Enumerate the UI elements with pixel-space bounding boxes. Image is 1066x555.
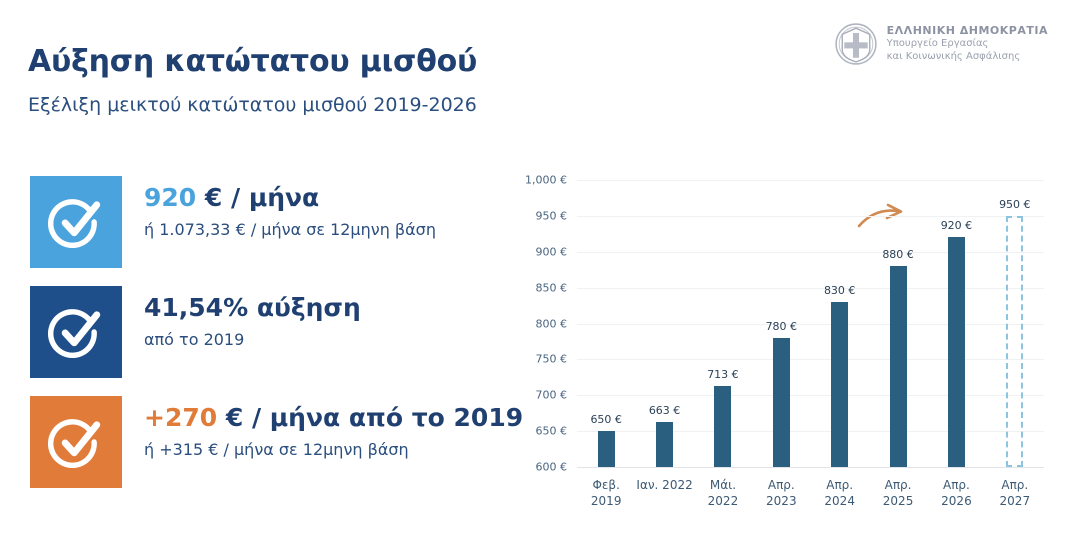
stat-body: 920 € / μήνα ή 1.073,33 € / μήνα σε 12μη… [122, 176, 436, 239]
check-circle-icon [47, 193, 105, 251]
stat-headline: +270 € / μήνα από το 2019 [144, 404, 523, 433]
ministry-logo-text: ΕΛΛΗΝΙΚΗ ΔΗΜΟΚΡΑΤΙΑ Υπουργείο Εργασίας κ… [887, 24, 1048, 64]
page-subtitle: Εξέλιξη μεικτού κατώτατου μισθού 2019-20… [28, 94, 477, 116]
x-axis-line [577, 467, 1044, 468]
ministry-logo: ΕΛΛΗΝΙΚΗ ΔΗΜΟΚΡΑΤΙΑ Υπουργείο Εργασίας κ… [834, 22, 1048, 66]
y-axis-tick-label: 950 € [505, 209, 567, 222]
x-axis-tick-label: Απρ.2027 [1000, 477, 1031, 509]
chart-bar-value-label: 920 € [941, 219, 973, 232]
y-axis-tick-label: 700 € [505, 389, 567, 402]
x-axis-tick-label: Απρ.2025 [883, 477, 914, 509]
chart-bar-value-label: 950 € [999, 198, 1031, 211]
stat-subtext: από το 2019 [144, 330, 361, 349]
y-axis-tick-label: 850 € [505, 281, 567, 294]
stat-item: +270 € / μήνα από το 2019 ή +315 € / μήν… [30, 396, 480, 488]
chart-gridline [577, 288, 1044, 289]
page-title: Αύξηση κατώτατου μισθού [28, 44, 477, 79]
chart-bar [598, 431, 615, 467]
y-axis-tick-label: 900 € [505, 245, 567, 258]
check-circle-icon [47, 303, 105, 361]
chart-bar-value-label: 880 € [882, 248, 914, 261]
x-axis-tick-label: Απρ.2026 [941, 477, 972, 509]
stat-item: 41,54% αύξηση από το 2019 [30, 286, 480, 378]
x-axis-tick-label: Απρ.2023 [766, 477, 797, 509]
stat-headline-rest: € / μήνα [196, 183, 319, 212]
chart-plot-area: 1,000 €950 €900 €850 €800 €750 €700 €650… [505, 160, 1050, 525]
stat-icon-box [30, 286, 122, 378]
chart-bar-value-label: 650 € [590, 413, 622, 426]
y-axis-tick-label: 1,000 € [505, 174, 567, 187]
chart-bar [656, 422, 673, 467]
chart-bar [890, 266, 907, 467]
chart-gridline [577, 395, 1044, 396]
stat-icon-box [30, 176, 122, 268]
chart-bar-value-label: 780 € [766, 320, 798, 333]
stat-subtext: ή 1.073,33 € / μήνα σε 12μηνη βάση [144, 220, 436, 239]
chart-bar [831, 302, 848, 467]
check-circle-icon [47, 413, 105, 471]
x-axis-tick-label: Ιαν. 2022 [636, 477, 692, 493]
minimum-wage-bar-chart: 1,000 €950 €900 €850 €800 €750 €700 €650… [505, 160, 1050, 525]
chart-bar-value-label: 713 € [707, 368, 739, 381]
chart-bar-projected [1006, 216, 1023, 467]
chart-gridline [577, 252, 1044, 253]
chart-bar [773, 338, 790, 467]
stat-headline: 41,54% αύξηση [144, 294, 361, 323]
chart-bar-value-label: 663 € [649, 404, 681, 417]
stat-item: 920 € / μήνα ή 1.073,33 € / μήνα σε 12μη… [30, 176, 480, 268]
chart-bar-value-label: 830 € [824, 284, 856, 297]
stat-icon-box [30, 396, 122, 488]
y-axis-tick-label: 750 € [505, 353, 567, 366]
chart-gridline [577, 324, 1044, 325]
stat-value: +270 [144, 403, 217, 432]
x-axis-tick-label: Μάι.2022 [708, 477, 739, 509]
chart-bar [948, 237, 965, 467]
stat-body: 41,54% αύξηση από το 2019 [122, 286, 361, 349]
greek-republic-coat-of-arms-icon [834, 22, 878, 66]
stat-value: 920 [144, 183, 196, 212]
stat-value: 41,54% [144, 293, 248, 322]
x-axis-tick-label: Φεβ.2019 [591, 477, 622, 509]
stat-headline-rest: αύξηση [248, 293, 361, 322]
stat-body: +270 € / μήνα από το 2019 ή +315 € / μήν… [122, 396, 523, 459]
y-axis-tick-label: 800 € [505, 317, 567, 330]
chart-bar [714, 386, 731, 467]
stat-headline-rest: € / μήνα από το 2019 [217, 403, 523, 432]
logo-line-republic: ΕΛΛΗΝΙΚΗ ΔΗΜΟΚΡΑΤΙΑ [887, 24, 1048, 38]
chart-gridline [577, 180, 1044, 181]
stat-subtext: ή +315 € / μήνα σε 12μηνη βάση [144, 440, 523, 459]
x-axis-tick-label: Απρ.2024 [824, 477, 855, 509]
stats-list: 920 € / μήνα ή 1.073,33 € / μήνα σε 12μη… [30, 176, 480, 506]
y-axis-tick-label: 600 € [505, 461, 567, 474]
stat-headline: 920 € / μήνα [144, 184, 436, 213]
chart-gridline [577, 216, 1044, 217]
y-axis-tick-label: 650 € [505, 425, 567, 438]
chart-gridline [577, 431, 1044, 432]
logo-line-ministry: Υπουργείο Εργασίας [887, 38, 1048, 51]
logo-line-ministry-cont: και Κοινωνικής Ασφάλισης [887, 51, 1048, 64]
chart-gridline [577, 359, 1044, 360]
